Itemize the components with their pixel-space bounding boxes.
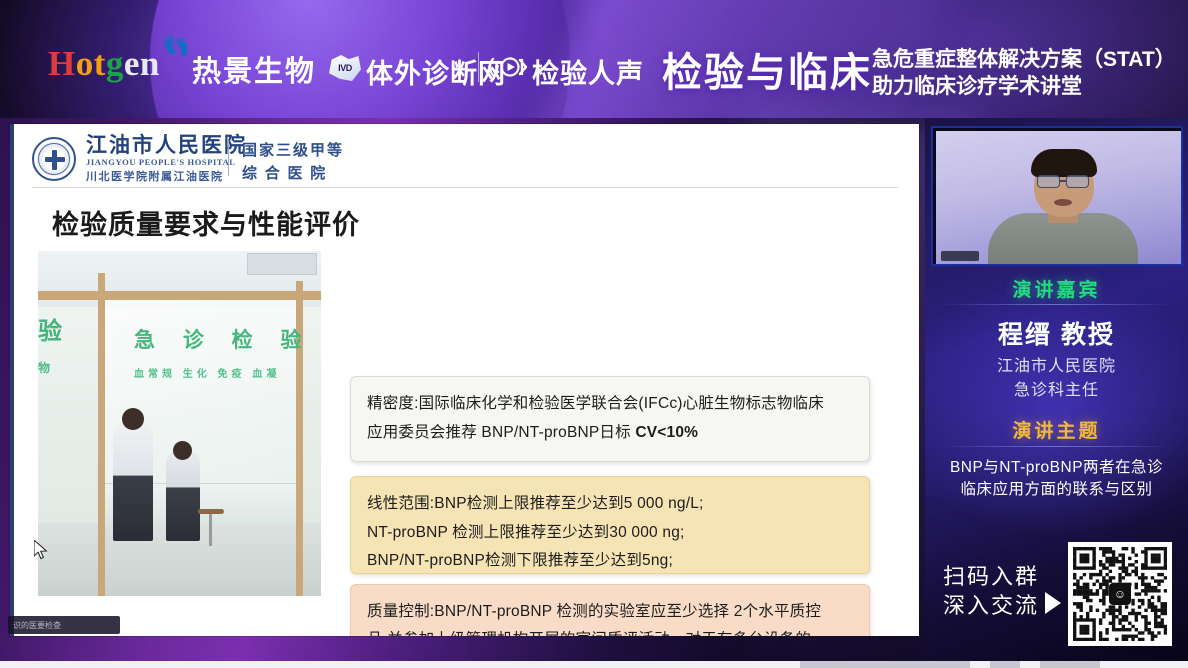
event-subtitle-line2: 助力临床诊疗学术讲堂 xyxy=(872,70,1082,100)
hospital-grade-line1: 国家三级甲等 xyxy=(242,140,344,163)
slide-header-rule xyxy=(32,187,898,188)
bottom-status-strip xyxy=(0,661,1188,668)
partner-sound-name: 检验人声 xyxy=(532,52,644,91)
qr-cta-line2: 深入交流 xyxy=(943,591,1039,620)
guest-section-label: 演讲嘉宾 xyxy=(925,275,1188,302)
photo-sign-main: 急 诊 检 验 xyxy=(134,324,313,354)
hotgen-letter-g: g xyxy=(106,44,124,83)
hospital-grade: 国家三级甲等 综 合 医 院 xyxy=(242,140,344,185)
hospital-name-en: JIANGYOU PEOPLE'S HOSPITAL xyxy=(86,157,247,167)
hospital-seal-icon xyxy=(32,137,76,181)
partner-ivd-name: 体外诊断网 xyxy=(366,52,506,91)
precision-line1: 精密度:国际临床化学和检验医学联合会(IFCc)心脏生物标志物临床 xyxy=(367,390,853,419)
photo-sign-sub: 血常规 生化 免疫 血凝 xyxy=(134,365,280,380)
hospital-name-cn: 江油市人民医院 xyxy=(86,134,247,156)
qr-call-to-action: 扫码入群 深入交流 xyxy=(943,562,1039,620)
speaker-name: 程缙 教授 xyxy=(925,315,1188,351)
precision-bold-value: CV<10% xyxy=(635,424,698,441)
speaker-info-panel: 演讲嘉宾 程缙 教授 江油市人民医院 急诊科主任 演讲主题 BNP与NT-pro… xyxy=(925,118,1188,668)
hospital-affiliate-name: 川北医学院附属江油医院 xyxy=(86,168,247,184)
linearity-box: 线性范围:BNP检测上限推荐至少达到5 000 ng/L; NT-proBNP … xyxy=(350,476,870,574)
hospital-grade-line2: 综 合 医 院 xyxy=(242,163,344,186)
slide-accent-bar xyxy=(10,124,14,636)
qr-code[interactable]: ☺ xyxy=(1068,542,1172,646)
panel-divider-mid xyxy=(939,446,1174,447)
precision-line2: 应用委员会推荐 BNP/NT-proBNP日标 xyxy=(367,424,635,441)
linearity-line2: NT-proBNP 检测上限推荐至少达到30 000 ng; xyxy=(367,519,853,548)
speaker-video-frame xyxy=(936,131,1182,265)
topic-section-label: 演讲主题 xyxy=(925,416,1188,443)
precision-box: 精密度:国际临床化学和检验医学联合会(IFCc)心脏生物标志物临床 应用委员会推… xyxy=(350,376,870,462)
app-root: Hotgen 👣 热景生物 IVD 体外诊断网 检验人声 检验与临床 急危重症整… xyxy=(0,0,1188,668)
event-title: 检验与临床 xyxy=(662,40,872,98)
sound-wave-play-icon xyxy=(489,53,529,81)
quality-control-box: 质量控制:BNP/NT-proBNP 检测的实验室应至少选择 2个水平质控 品,… xyxy=(350,584,870,636)
hotgen-letter-en: en xyxy=(124,44,160,83)
hospital-header-divider xyxy=(228,140,229,176)
video-name-tag xyxy=(941,251,979,261)
lab-counter-photo: 验 物 急 诊 检 验 血常规 生化 免疫 血凝 xyxy=(38,251,321,596)
qr-code-canvas: ☺ xyxy=(1073,547,1167,641)
linearity-line3: BNP/NT-proBNP检测下限推荐至少达到5ng; xyxy=(367,547,853,576)
banner-divider xyxy=(478,52,479,82)
panel-divider-top xyxy=(939,304,1174,305)
hotgen-letter-h: H xyxy=(48,44,76,83)
speaker-affiliation-line2: 急诊科主任 xyxy=(925,376,1188,400)
hotgen-wordmark: Hotgen xyxy=(48,44,160,84)
qc-line1: 质量控制:BNP/NT-proBNP 检测的实验室应至少选择 2个水平质控 xyxy=(367,598,853,626)
mouse-cursor-icon xyxy=(34,540,48,560)
wechat-icon: ☺ xyxy=(1109,583,1131,605)
slide-title: 检验质量要求与性能评价 xyxy=(52,203,360,242)
play-triangle-icon xyxy=(1045,592,1061,614)
speaker-affiliation-line1: 江油市人民医院 xyxy=(925,352,1188,376)
event-banner: Hotgen 👣 热景生物 IVD 体外诊断网 检验人声 检验与临床 急危重症整… xyxy=(0,0,1188,118)
qr-join-section[interactable]: 扫码入群 深入交流 ☺ xyxy=(925,536,1188,668)
linearity-line1: 线性范围:BNP检测上限推荐至少达到5 000 ng/L; xyxy=(367,490,853,519)
hotgen-chinese-name: 热景生物 xyxy=(192,48,316,90)
hotgen-letter-ot: ot xyxy=(76,44,106,83)
photo-sign-left-sub: 物 xyxy=(38,359,51,376)
photo-sign-left-main: 验 xyxy=(38,311,64,346)
topic-line1: BNP与NT-proBNP两者在急诊 xyxy=(925,455,1188,477)
event-subtitle-line1: 急危重症整体解决方案（STAT） xyxy=(872,43,1176,73)
ivd-badge-label: IVD xyxy=(338,63,352,73)
ivd-badge-icon: IVD xyxy=(329,55,361,81)
butterfly-icon: 👣 xyxy=(160,30,194,63)
hospital-header: 江油市人民医院 JIANGYOU PEOPLE'S HOSPITAL 川北医学院… xyxy=(32,134,247,184)
speaker-video-tile[interactable] xyxy=(931,126,1183,266)
qc-line2: 品,并参加上级管理机构开展的室间质评活动。对于有多台设备的 xyxy=(367,626,853,636)
presentation-slide[interactable]: 江油市人民医院 JIANGYOU PEOPLE'S HOSPITAL 川北医学院… xyxy=(10,124,919,636)
qr-cta-line1: 扫码入群 xyxy=(943,562,1039,591)
taskbar-overlay-text: 识的医要检查 xyxy=(13,620,61,631)
topic-line2: 临床应用方面的联系与区别 xyxy=(925,477,1188,499)
taskbar-overlay-ghost[interactable]: 识的医要检查 xyxy=(8,616,120,634)
